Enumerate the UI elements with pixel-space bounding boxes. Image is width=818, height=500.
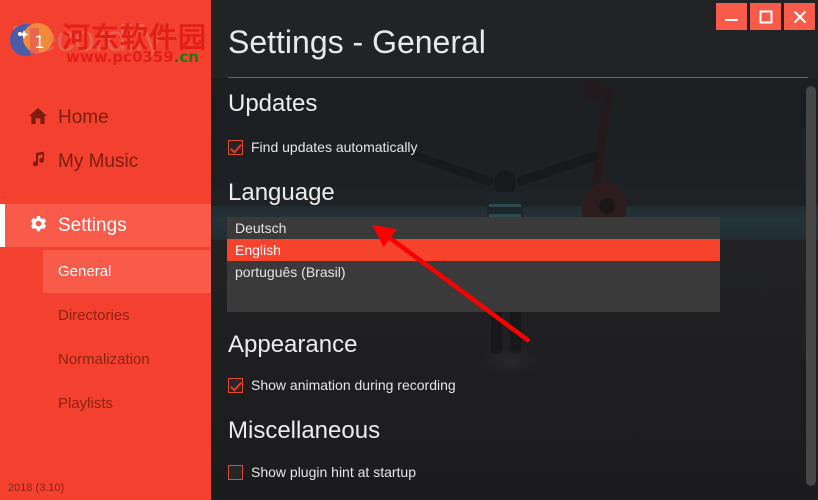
show-animation-checkbox[interactable] xyxy=(228,378,243,393)
sidebar-item-playlists-label: Playlists xyxy=(58,395,113,412)
app-logo: Recordify xyxy=(10,14,210,64)
language-option-english[interactable]: English xyxy=(227,239,720,261)
sidebar-item-directories-label: Directories xyxy=(58,307,130,324)
sidebar-item-settings-label: Settings xyxy=(58,215,127,237)
page-title: Settings - General xyxy=(228,24,486,61)
maximize-icon xyxy=(759,10,773,24)
settings-panel: Updates Find updates automatically Langu… xyxy=(211,78,818,500)
language-option-deutsch[interactable]: Deutsch xyxy=(227,217,720,239)
language-option-portugues[interactable]: português (Brasil) xyxy=(227,261,720,283)
sidebar-item-normalization-label: Normalization xyxy=(58,351,150,368)
scrollbar-thumb[interactable] xyxy=(806,86,816,486)
sidebar-item-my-music[interactable]: My Music xyxy=(0,140,211,183)
content-area: Settings - General Updates Find updates … xyxy=(211,0,818,500)
maximize-button[interactable] xyxy=(750,3,781,30)
find-updates-checkbox[interactable] xyxy=(228,140,243,155)
section-title-updates: Updates xyxy=(228,90,317,118)
sidebar-item-general-label: General xyxy=(58,263,111,280)
plugin-hint-checkbox[interactable] xyxy=(228,465,243,480)
section-title-appearance: Appearance xyxy=(228,331,357,359)
home-icon xyxy=(27,107,49,128)
scrollbar[interactable] xyxy=(804,78,818,500)
sidebar-item-normalization[interactable]: Normalization xyxy=(0,338,211,381)
active-indicator xyxy=(0,204,5,247)
close-icon xyxy=(793,10,807,24)
sidebar-item-home-label: Home xyxy=(58,107,109,129)
plugin-hint-label: Show plugin hint at startup xyxy=(251,464,416,480)
sidebar-item-directories[interactable]: Directories xyxy=(0,294,211,337)
language-listbox[interactable]: Deutsch English português (Brasil) xyxy=(227,217,720,312)
find-updates-label: Find updates automatically xyxy=(251,139,418,155)
sidebar: Recordify Home My Music Settings xyxy=(0,0,211,500)
sidebar-item-general[interactable]: General xyxy=(0,250,211,293)
minimize-button[interactable] xyxy=(716,3,747,30)
sidebar-item-playlists[interactable]: Playlists xyxy=(0,382,211,425)
plugin-hint-checkbox-row[interactable]: Show plugin hint at startup xyxy=(228,464,416,480)
application-window: Recordify Home My Music Settings xyxy=(0,0,818,500)
find-updates-checkbox-row[interactable]: Find updates automatically xyxy=(228,139,418,155)
sidebar-item-my-music-label: My Music xyxy=(58,151,138,173)
version-label: 2018 (3.10) xyxy=(8,482,64,494)
section-title-miscellaneous: Miscellaneous xyxy=(228,417,380,445)
show-animation-label: Show animation during recording xyxy=(251,377,456,393)
window-controls xyxy=(716,0,818,30)
show-animation-checkbox-row[interactable]: Show animation during recording xyxy=(228,377,456,393)
gear-icon xyxy=(27,215,49,237)
sidebar-item-home[interactable]: Home xyxy=(0,96,211,139)
app-logo-text: Recordify xyxy=(10,18,162,60)
sidebar-item-settings[interactable]: Settings xyxy=(0,204,211,247)
minimize-icon xyxy=(724,11,739,23)
sub-item-inset xyxy=(0,250,43,293)
music-note-icon xyxy=(27,151,49,172)
close-button[interactable] xyxy=(784,3,815,30)
section-title-language: Language xyxy=(228,179,335,207)
